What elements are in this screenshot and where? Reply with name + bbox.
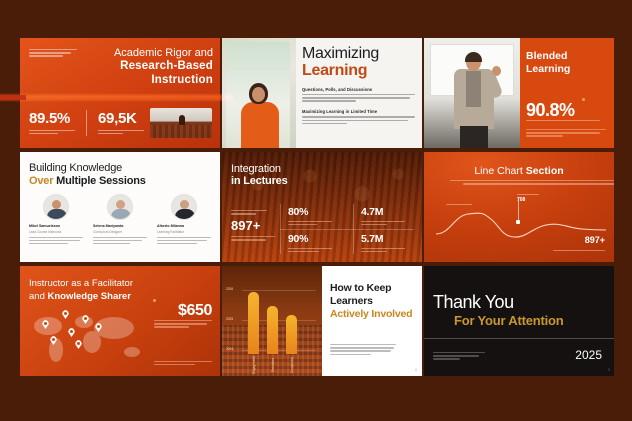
slide2-content: Maximizing Learning Questions, Polls, an…	[302, 46, 415, 126]
world-map	[26, 306, 152, 368]
slide1-stats: 89.5% 69,5K	[29, 110, 166, 136]
slide3-title-line1: Blended	[526, 50, 567, 62]
slide4-title-line2: Over Multiple Sessions	[29, 175, 146, 187]
slide6-title-bold: Section	[526, 165, 564, 177]
slide6-title: Line Chart Section	[424, 165, 614, 177]
page-number: 9	[608, 368, 610, 372]
slide-keep-learners-involved[interactable]: 2026 2025 2024 Engagement Retention Comp…	[222, 266, 422, 376]
slide-line-chart[interactable]: Line Chart Section 708 897+	[424, 152, 614, 262]
metric-cell: 80%	[288, 206, 332, 227]
metric-caption	[361, 248, 405, 253]
slide1-title-line3: Instruction	[85, 74, 213, 88]
divider-horizontal	[280, 229, 414, 230]
slide3-title-line2: Learning	[526, 63, 570, 75]
slide6-subtitle	[450, 180, 614, 186]
member-role: Lead Course Instructor	[29, 230, 83, 234]
map-pin-icon[interactable]	[62, 310, 69, 319]
page-number: 8	[415, 368, 417, 372]
slide5-title: Integration in Lectures	[231, 163, 288, 187]
bar[interactable]: Engagement	[248, 292, 259, 354]
member-role: Learning Facilitator	[157, 230, 211, 234]
slide2-section: Questions, Polls, and Discussions	[302, 87, 415, 102]
slide1-title: Academic Rigor and Research-Based Instru…	[85, 47, 213, 87]
year-label: 2025	[575, 348, 602, 362]
footer-value: 897+	[585, 235, 605, 245]
member-bio	[29, 237, 83, 245]
accent-dot-icon	[153, 299, 156, 302]
stat-value: 89.5%	[29, 110, 75, 127]
stat-caption	[29, 130, 75, 135]
price-value: $650	[178, 302, 212, 320]
slide5-title-line2: in Lectures	[231, 175, 288, 187]
classroom-photo	[150, 108, 212, 138]
slide8-title: How to Keep Learners Actively Involved	[330, 282, 414, 321]
stat-caption	[98, 130, 144, 135]
team-member[interactable]: Mikel Samuelsson Lead Course Instructor	[29, 194, 83, 246]
avatar	[107, 194, 133, 220]
price-body	[154, 320, 212, 330]
stat-item: 69,5K	[98, 110, 155, 136]
highlight-caption	[231, 210, 267, 216]
accent-dot-icon	[582, 98, 585, 101]
slide8-title-line2: Actively Involved	[330, 308, 412, 320]
map-pin-icon[interactable]	[42, 320, 49, 329]
slide7-footer-body	[154, 361, 212, 367]
bar-label: Retention	[271, 358, 275, 372]
y-axis-label: 2025	[226, 317, 233, 321]
line-chart-svg	[436, 198, 606, 250]
slide-maximizing-learning[interactable]: Maximizing Learning Questions, Polls, an…	[222, 38, 422, 148]
slide-academic-rigor[interactable]: Academic Rigor and Research-Based Instru…	[20, 38, 220, 148]
metric-cell: 5.7M	[361, 233, 405, 254]
metric-cell: 4.7M	[361, 206, 405, 227]
map-pin-icon[interactable]	[82, 315, 89, 324]
slide7-title-line1: Instructor as a Facilitator	[29, 278, 133, 289]
slide4-title-line1: Building Knowledge	[29, 162, 122, 174]
highlight-value: 897+	[231, 218, 260, 233]
member-name: Mikel Samuelsson	[29, 224, 83, 228]
metric-value: 5.7M	[361, 233, 405, 245]
lecture-hall-photo: 2026 2025 2024 Engagement Retention Comp…	[222, 266, 322, 376]
map-pin-icon[interactable]	[95, 323, 102, 332]
slide7-title: Instructor as a Facilitator and Knowledg…	[29, 278, 133, 304]
render-artifact-streak-edge	[0, 95, 26, 100]
slide2-title-line1: Maximizing	[302, 45, 379, 62]
slide2-section: Maximizing Learning in Limited Time	[302, 109, 415, 124]
y-axis-label: 2024	[226, 347, 233, 351]
slide7-title-bold: Knowledge Sharer	[48, 291, 131, 302]
slide8-content: How to Keep Learners Actively Involved	[330, 282, 414, 321]
section-body	[302, 116, 415, 124]
metric-value: 80%	[288, 206, 332, 218]
speaker-photo	[424, 38, 520, 148]
member-name: Alberto Milanna	[157, 224, 211, 228]
metric-value: 90%	[288, 233, 332, 245]
team-member[interactable]: Selena Mariyanda Curriculum Designer	[93, 194, 147, 246]
highlight-body	[231, 236, 275, 242]
slide1-title-line1: Academic Rigor and	[85, 47, 213, 60]
slide3-stat-caption	[526, 120, 600, 123]
bar[interactable]: Retention	[267, 306, 278, 354]
metric-value: 4.7M	[361, 206, 405, 218]
thank-you-title: Thank You	[433, 292, 514, 313]
stat-item: 89.5%	[29, 110, 87, 136]
slide3-stat-value: 90.8%	[526, 100, 575, 121]
slide4-title-gold: Over	[29, 175, 53, 187]
metric-caption	[288, 221, 332, 226]
member-bio	[93, 237, 147, 245]
y-axis-label: 2026	[226, 287, 233, 291]
slide-integration-lectures[interactable]: Integration in Lectures 897+ 80% 4.7M	[222, 152, 422, 262]
footer-caption	[553, 250, 605, 253]
stat-value: 69,5K	[98, 110, 144, 127]
section-heading: Questions, Polls, and Discussions	[302, 87, 415, 92]
slide-building-knowledge[interactable]: Building Knowledge Over Multiple Session…	[20, 152, 220, 262]
slide2-title: Maximizing Learning	[302, 46, 415, 80]
instructor-photo	[222, 38, 296, 148]
metric-cell: 90%	[288, 233, 332, 254]
map-pin-icon[interactable]	[75, 340, 82, 349]
map-pin-icon[interactable]	[50, 336, 57, 345]
slide1-title-line2: Research-Based	[85, 60, 213, 74]
avatar	[171, 194, 197, 220]
slide-grid: Academic Rigor and Research-Based Instru…	[20, 38, 614, 377]
section-body	[302, 94, 415, 102]
member-role: Curriculum Designer	[93, 230, 147, 234]
slide5-title-line1: Integration	[231, 163, 281, 175]
team-list: Mikel Samuelsson Lead Course Instructor …	[29, 194, 211, 246]
member-bio	[157, 237, 211, 245]
slide6-title-plain: Line Chart	[474, 165, 522, 177]
bar-chart: Engagement Retention Completion	[248, 292, 304, 354]
metric-caption	[288, 248, 332, 253]
map-pin-icon[interactable]	[68, 328, 75, 337]
bar-label: Completion	[290, 357, 294, 373]
bar-label: Engagement	[252, 356, 256, 374]
thank-you-body	[433, 352, 485, 362]
slide-thank-you[interactable]: Thank You For Your Attention 2025 9	[424, 266, 614, 376]
slide2-title-line2: Learning	[302, 62, 367, 79]
team-member[interactable]: Alberto Milanna Learning Facilitator	[157, 194, 211, 246]
thank-you-subtitle: For Your Attention	[454, 313, 564, 328]
slide-instructor-facilitator[interactable]: Instructor as a Facilitator and Knowledg…	[20, 266, 220, 376]
slide8-title-line1: How to Keep Learners	[330, 282, 391, 307]
slide7-title-plain: and	[29, 291, 45, 302]
section-heading: Maximizing Learning in Limited Time	[302, 109, 415, 114]
slide8-body	[330, 344, 396, 357]
slide3-title: Blended Learning	[526, 50, 607, 75]
metric-caption	[361, 221, 405, 226]
avatar	[43, 194, 69, 220]
slide-blended-learning[interactable]: Blended Learning 90.8%	[424, 38, 614, 148]
slide4-title-dark: Multiple Sessions	[56, 175, 146, 187]
slide3-body	[526, 129, 606, 139]
bar[interactable]: Completion	[286, 315, 297, 354]
slide1-microtext	[29, 49, 77, 59]
divider	[424, 338, 614, 339]
member-name: Selena Mariyanda	[93, 224, 147, 228]
